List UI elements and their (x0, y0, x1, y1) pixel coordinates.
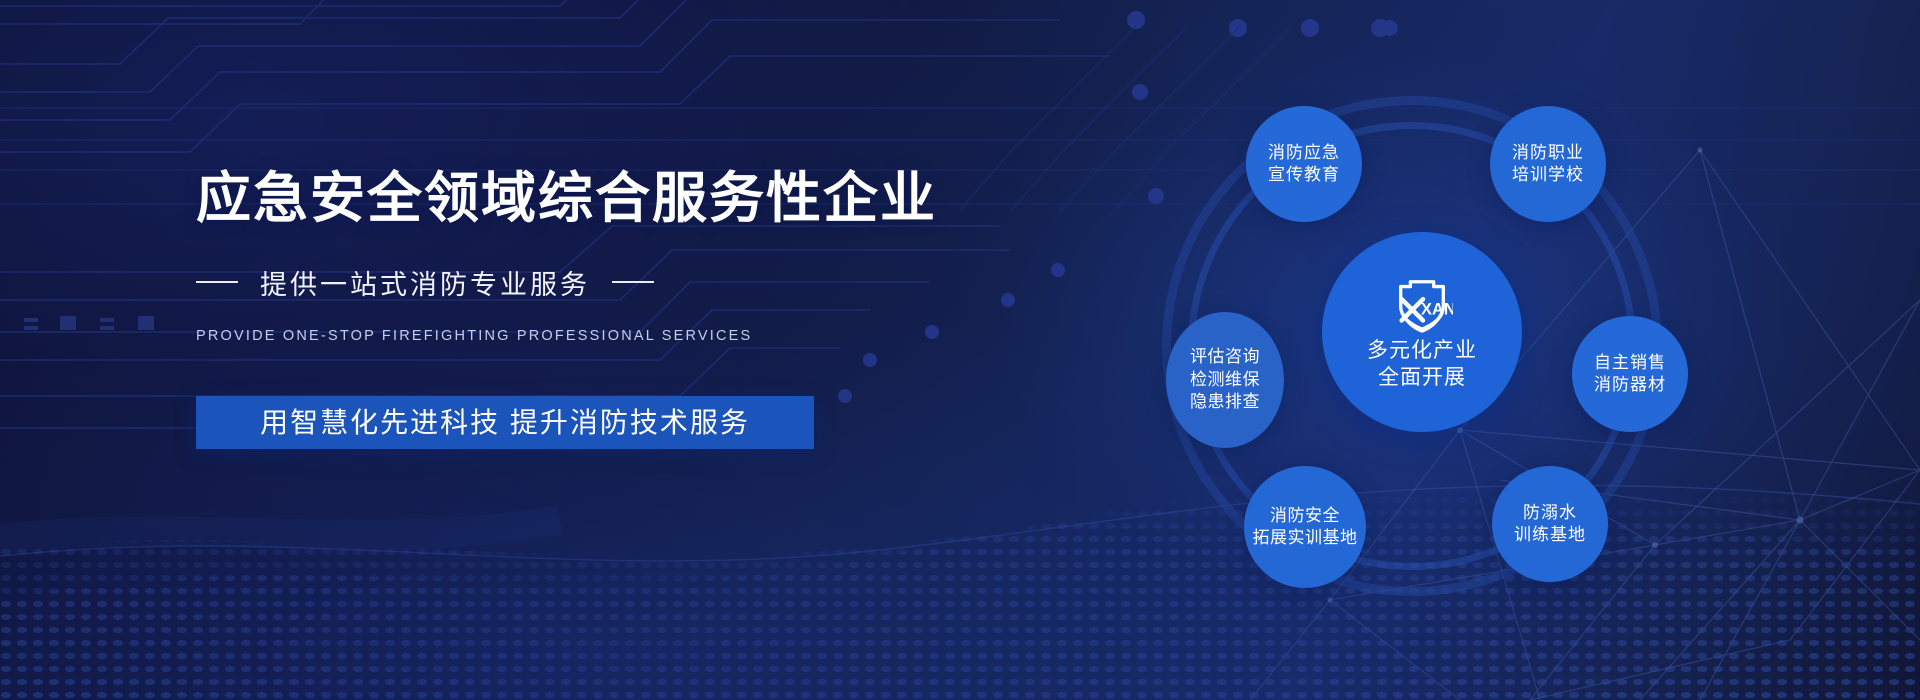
hero-banner: 应急安全领域综合服务性企业 提供一站式消防专业服务 PROVIDE ONE-ST… (0, 0, 1920, 700)
divider-dash-left (196, 281, 238, 283)
bubble-assessment-inspection[interactable]: 评估咨询 检测维保 隐患排查 (1166, 312, 1284, 448)
bubble-vocational-training-school[interactable]: 消防职业 培训学校 (1490, 106, 1606, 222)
shield-xan-logo-icon: XAN (1391, 273, 1453, 335)
bubble-line: 隐患排查 (1190, 391, 1260, 413)
bubble-line: 评估咨询 (1190, 346, 1260, 368)
bubble-line: 自主销售 (1594, 352, 1666, 374)
business-scope-diagram: XAN 多元化产业 全面开展 消防应急 宣传教育 消防职业 培训学校 自主销售 … (1122, 78, 1742, 618)
bubble-line: 培训学校 (1512, 164, 1584, 186)
center-line-2: 全面开展 (1367, 364, 1477, 391)
page-subtitle: 提供一站式消防专业服务 (260, 263, 590, 302)
center-bubble-label: 多元化产业 全面开展 (1367, 337, 1477, 392)
center-bubble[interactable]: XAN 多元化产业 全面开展 (1322, 232, 1522, 432)
center-line-1: 多元化产业 (1367, 337, 1477, 364)
bubble-drowning-prevention-base[interactable]: 防溺水 训练基地 (1492, 466, 1608, 582)
bubble-equipment-sales[interactable]: 自主销售 消防器材 (1572, 316, 1688, 432)
bubble-line: 消防器材 (1594, 374, 1666, 396)
bubble-line: 消防安全 (1270, 505, 1340, 527)
bubble-line: 拓展实训基地 (1253, 527, 1358, 549)
cta-button[interactable]: 用智慧化先进科技 提升消防技术服务 (196, 396, 814, 449)
bubble-line: 消防应急 (1268, 142, 1340, 164)
page-title: 应急安全领域综合服务性企业 (196, 168, 916, 229)
logo-text: XAN (1421, 300, 1453, 318)
bubble-line: 消防职业 (1512, 142, 1584, 164)
bubble-safety-training-base[interactable]: 消防安全 拓展实训基地 (1244, 466, 1366, 588)
bubble-line: 防溺水 (1523, 502, 1577, 524)
bubble-line: 训练基地 (1514, 524, 1586, 546)
divider-dash-right (612, 281, 654, 283)
bubble-line: 检测维保 (1190, 369, 1260, 391)
bubble-fire-emergency-education[interactable]: 消防应急 宣传教育 (1246, 106, 1362, 222)
english-tagline: PROVIDE ONE-STOP FIREFIGHTING PROFESSION… (196, 328, 916, 344)
bubble-line: 宣传教育 (1268, 164, 1340, 186)
hero-text-block: 应急安全领域综合服务性企业 提供一站式消防专业服务 PROVIDE ONE-ST… (196, 168, 916, 449)
subtitle-row: 提供一站式消防专业服务 (196, 263, 916, 302)
